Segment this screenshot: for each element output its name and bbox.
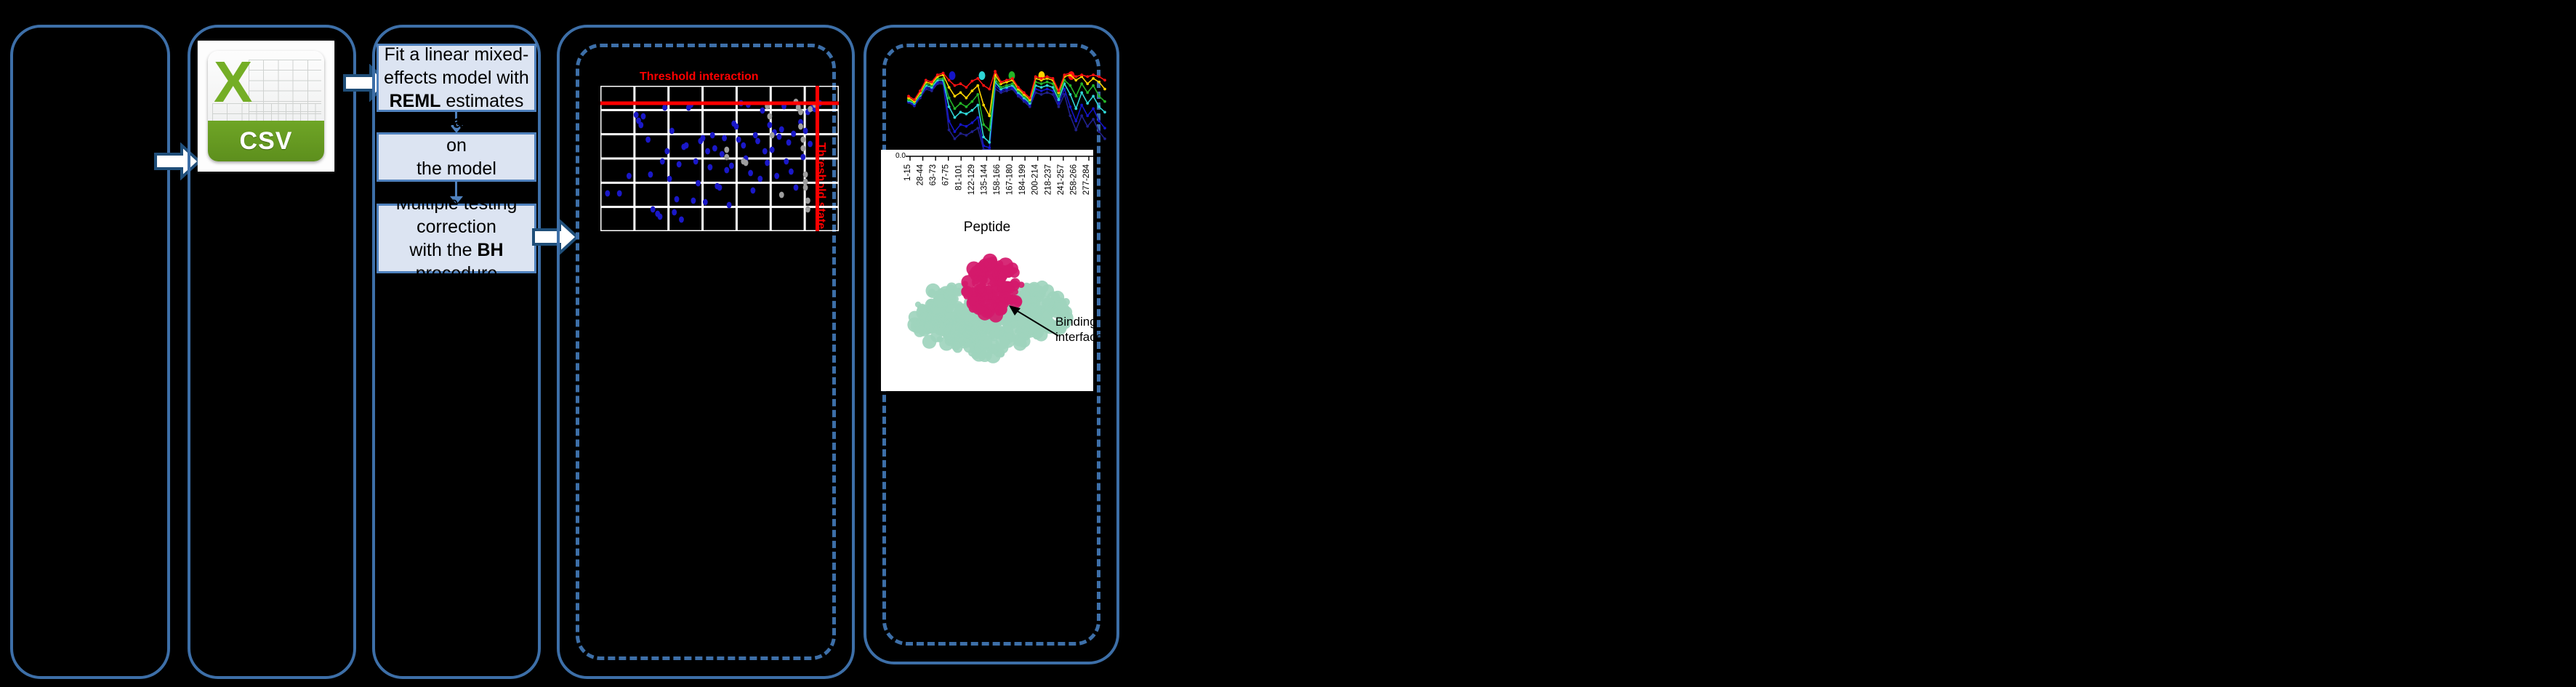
protein-structure-image xyxy=(900,244,1082,366)
csv-card: X CSV xyxy=(208,51,324,161)
flow-3-line3-post: procedure xyxy=(416,263,498,284)
csv-sheet-area: X xyxy=(208,51,324,121)
csv-label-band: CSV xyxy=(208,121,324,161)
svg-text:200-214: 200-214 xyxy=(1031,164,1040,195)
volcano-scatter[interactable] xyxy=(600,86,839,231)
svg-text:63-73: 63-73 xyxy=(929,164,938,185)
flow-1-line1: Fit a linear mixed- xyxy=(385,44,529,65)
flow-1-reml: REML xyxy=(390,91,441,111)
peptide-axis-tick-labels: 0.01-1528-4463-7367-7581-101122-129135-1… xyxy=(894,151,1095,218)
csv-label-text: CSV xyxy=(240,127,293,156)
flow-1-line3-rest: estimates xyxy=(440,91,523,111)
excel-x-glyph: X xyxy=(214,54,252,111)
svg-text:1-15: 1-15 xyxy=(903,164,912,181)
flow-step-multiple-testing[interactable]: Multiple testing correction with the BH … xyxy=(377,204,536,273)
flow-3-line3-pre: with the xyxy=(409,240,477,260)
svg-text:241-257: 241-257 xyxy=(1057,164,1066,195)
svg-text:184-199: 184-199 xyxy=(1018,164,1027,195)
svg-text:122-129: 122-129 xyxy=(967,164,976,195)
workflow-diagram: X CSV Fit a linear mixed- effects model … xyxy=(0,0,2576,687)
binding-interface-label: Binding interface xyxy=(1055,314,1103,345)
svg-text:258-266: 258-266 xyxy=(1069,164,1078,195)
csv-file-icon[interactable]: X CSV xyxy=(198,41,334,172)
svg-text:67-75: 67-75 xyxy=(942,164,951,185)
svg-text:277-284: 277-284 xyxy=(1082,164,1091,195)
peptide-axis-title: Peptide xyxy=(881,220,1093,236)
flow-2-post: on xyxy=(446,135,467,156)
svg-text:81-101: 81-101 xyxy=(954,164,963,190)
svg-text:158-166: 158-166 xyxy=(993,164,1002,195)
flow-1-line2: effects model with xyxy=(384,68,529,88)
input-panel[interactable] xyxy=(10,25,170,679)
svg-text:0.0: 0.0 xyxy=(895,152,906,160)
flow-3-bh: BH xyxy=(478,240,504,260)
svg-text:135-144: 135-144 xyxy=(980,164,989,195)
flow-2-pre: Apply xyxy=(386,112,436,132)
svg-text:167-180: 167-180 xyxy=(1006,164,1015,195)
flow-3-line1: Multiple testing xyxy=(396,193,518,214)
svg-text:218-237: 218-237 xyxy=(1044,164,1052,195)
peptide-profile-chart[interactable] xyxy=(900,64,1111,153)
flow-3-line2: correction xyxy=(416,217,496,237)
svg-text:28-44: 28-44 xyxy=(917,164,925,185)
flow-2-bold: Wald tests xyxy=(437,112,527,132)
flow-step-wald-tests[interactable]: Apply Wald tests on the model parameters xyxy=(377,132,536,182)
binding-line-2: interface xyxy=(1055,329,1103,345)
binding-line-1: Binding xyxy=(1055,314,1103,329)
flow-step-fit-model[interactable]: Fit a linear mixed- effects model with R… xyxy=(377,44,536,112)
threshold-interaction-label: Threshold interaction xyxy=(640,71,759,84)
